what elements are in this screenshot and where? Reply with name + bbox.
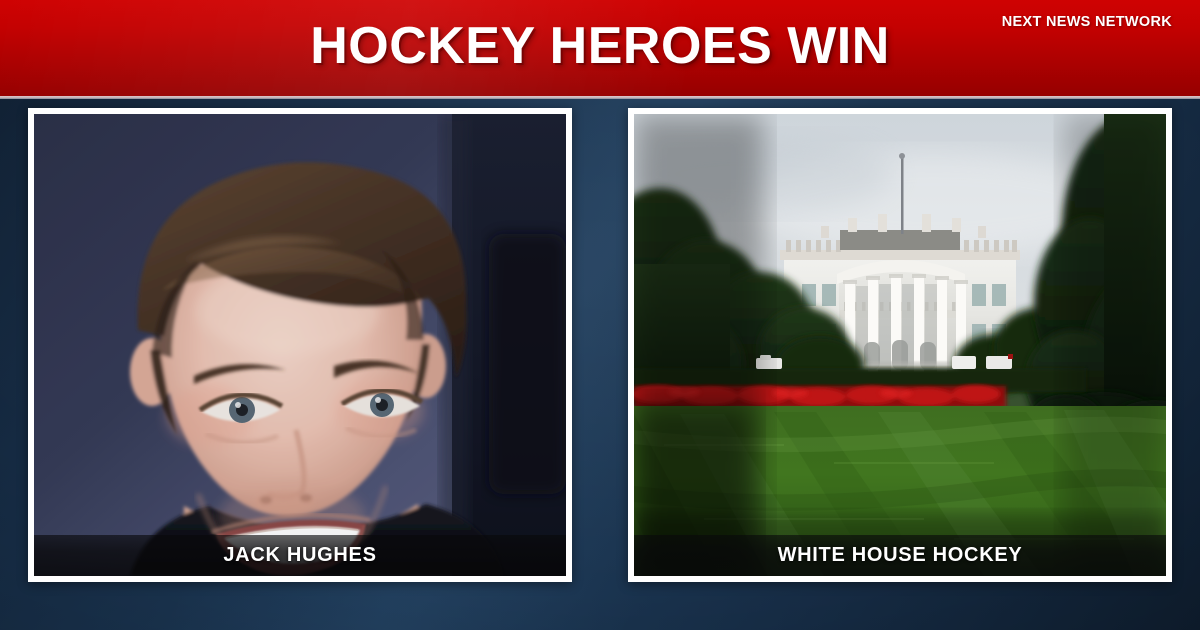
caption-bar-left: JACK HUGHES — [34, 535, 566, 576]
broadcast-graphic: HOCKEY HEROES WIN NEXT NEWS NETWORK — [0, 0, 1200, 630]
network-branding: NEXT NEWS NETWORK — [1002, 14, 1172, 30]
photo-panel-right: WHITE HOUSE HOCKEY — [628, 108, 1172, 582]
caption-bar-right: WHITE HOUSE HOCKEY — [634, 535, 1166, 576]
white-house-illustration — [634, 114, 1166, 576]
photo-white-house: WHITE HOUSE HOCKEY — [634, 114, 1166, 576]
portrait-illustration — [34, 114, 566, 576]
caption-label-right: WHITE HOUSE HOCKEY — [778, 544, 1023, 567]
photo-panel-left: JACK HUGHES — [28, 108, 572, 582]
header-banner: HOCKEY HEROES WIN NEXT NEWS NETWORK — [0, 0, 1200, 96]
caption-label-left: JACK HUGHES — [223, 544, 376, 567]
photo-jack-hughes: JACK HUGHES — [34, 114, 566, 576]
header-divider — [0, 96, 1200, 99]
